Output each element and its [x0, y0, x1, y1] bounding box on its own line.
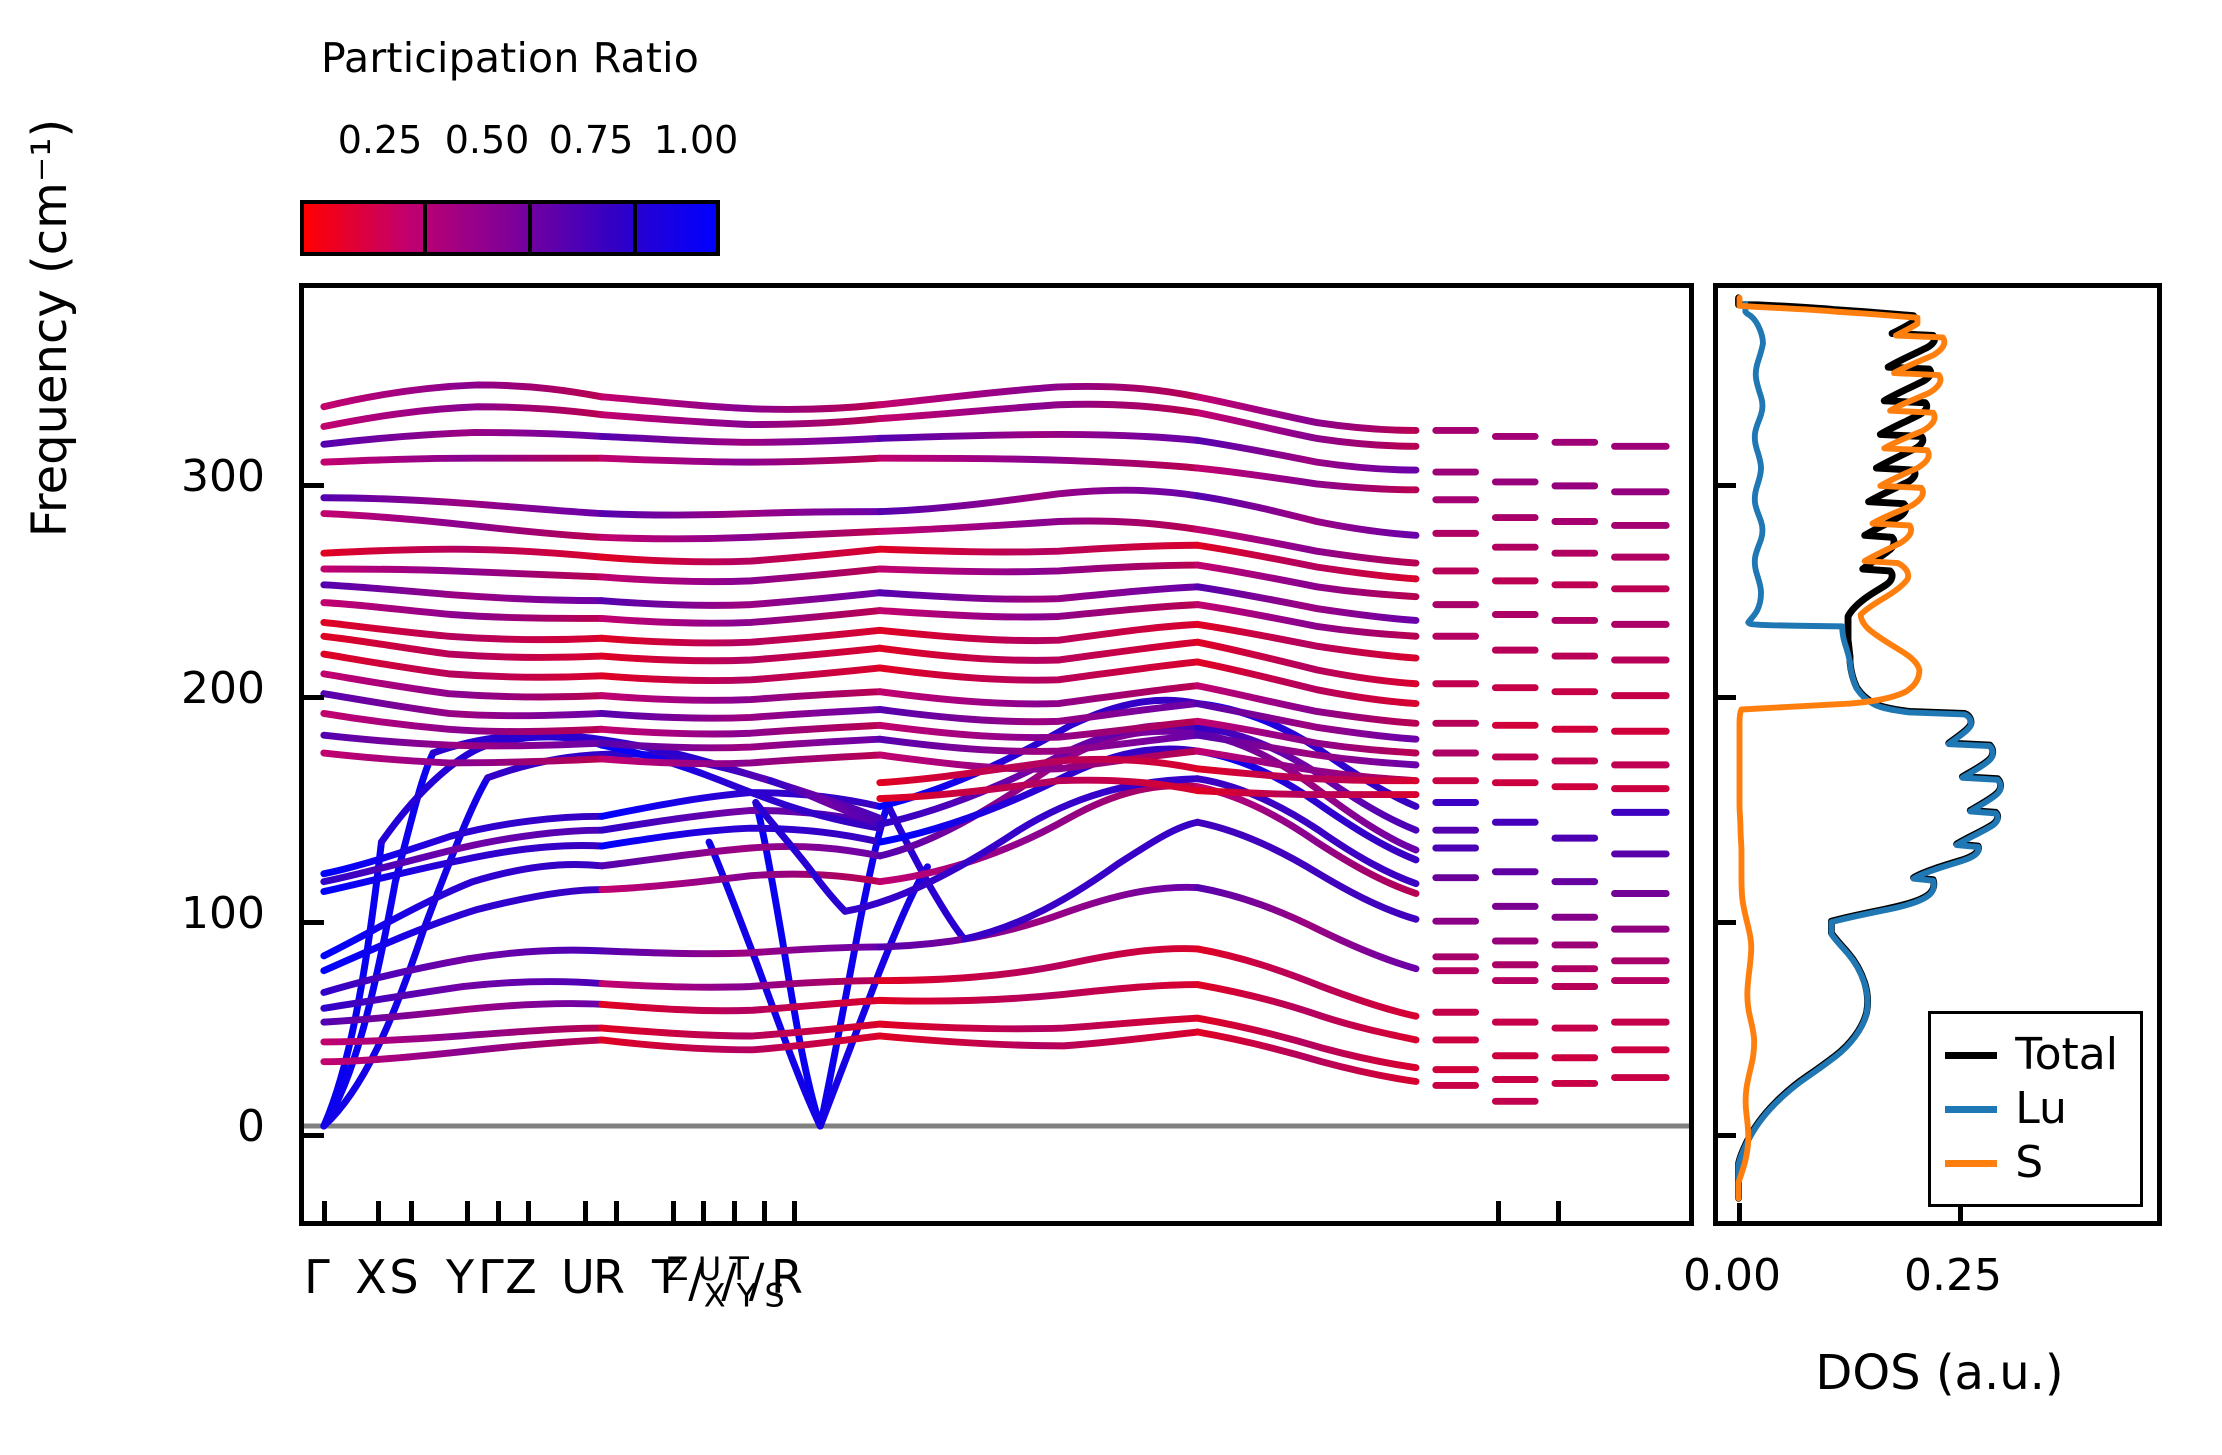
xtick-mark-gamma1 [322, 1201, 327, 1223]
xtick-mark-t [671, 1201, 676, 1223]
xtick-mark-r1 [614, 1201, 619, 1223]
colorbar-tick-2 [633, 204, 637, 252]
xtick-mark-extra2 [1556, 1201, 1561, 1223]
ytick-mark-0 [302, 1133, 324, 1138]
xtick-mark-z [526, 1201, 531, 1223]
ytick-mark-100 [302, 920, 324, 925]
dos-axis-label: DOS (a.u.) [1715, 1345, 2164, 1401]
colorbar-tick-label-0: 0.25 [320, 118, 440, 162]
legend-swatch-lu [1945, 1106, 1997, 1113]
xtick-mark-uy [732, 1201, 737, 1223]
dos-legend: Total Lu S [1928, 1011, 2143, 1207]
legend-label-total: Total [2015, 1033, 2118, 1077]
xtick-mark-x [376, 1201, 381, 1223]
ytick-mark-200 [302, 695, 324, 700]
participation-ratio-colorbar [300, 200, 720, 256]
ytick-mark-300 [302, 483, 324, 488]
xtick-mark-ts [762, 1201, 767, 1223]
xtick-mark-y [465, 1201, 470, 1223]
colorbar-tick-label-2: 0.75 [531, 118, 651, 162]
dos-ytick-mark-0 [1716, 1133, 1736, 1138]
xtick-mark-zx [701, 1201, 706, 1223]
dos-xtick-label-025: 0.25 [1843, 1250, 2063, 1301]
colorbar-tick-label-3: 1.00 [636, 118, 756, 162]
dos-ytick-mark-200 [1716, 695, 1736, 700]
legend-entry-lu: Lu [1945, 1082, 2118, 1136]
legend-swatch-s [1945, 1160, 1997, 1167]
colorbar-gradient [300, 200, 720, 256]
legend-label-s: S [2015, 1141, 2043, 1185]
colorbar-tick-1 [528, 204, 532, 252]
ytick-label-300: 300 [75, 455, 265, 499]
colorbar-tick-label-1: 0.50 [427, 118, 547, 162]
figure-canvas: Participation Ratio 0.25 0.50 0.75 1.00 … [0, 0, 2222, 1455]
dos-panel: Total Lu S [1713, 283, 2162, 1226]
phonon-band-structure-panel [299, 283, 1694, 1226]
xtick-mark-s [409, 1201, 414, 1223]
dos-xtick-mark-000 [1737, 1203, 1742, 1223]
colorbar-title: Participation Ratio [300, 34, 720, 82]
ytick-label-200: 200 [75, 667, 265, 711]
legend-entry-s: S [1945, 1136, 2118, 1190]
xtick-mark-u [583, 1201, 588, 1223]
legend-label-lu: Lu [2015, 1087, 2067, 1131]
frequency-axis-label: Frequency (cm⁻¹) [22, 48, 78, 608]
ytick-label-0: 0 [75, 1105, 265, 1149]
colorbar-tick-0 [423, 204, 427, 252]
legend-swatch-total [1945, 1052, 1997, 1059]
band-curves [304, 288, 1689, 1221]
dos-ytick-mark-100 [1716, 920, 1736, 925]
xtick-mark-gamma2 [496, 1201, 501, 1223]
dos-ytick-mark-300 [1716, 483, 1736, 488]
dos-xtick-label-000: 0.00 [1622, 1250, 1842, 1301]
legend-entry-total: Total [1945, 1028, 2118, 1082]
xtick-mark-r2 [792, 1201, 797, 1223]
xtick-mark-extra1 [1496, 1201, 1501, 1223]
xtick-label-r2: R [737, 1250, 837, 1304]
ytick-label-100: 100 [75, 892, 265, 936]
